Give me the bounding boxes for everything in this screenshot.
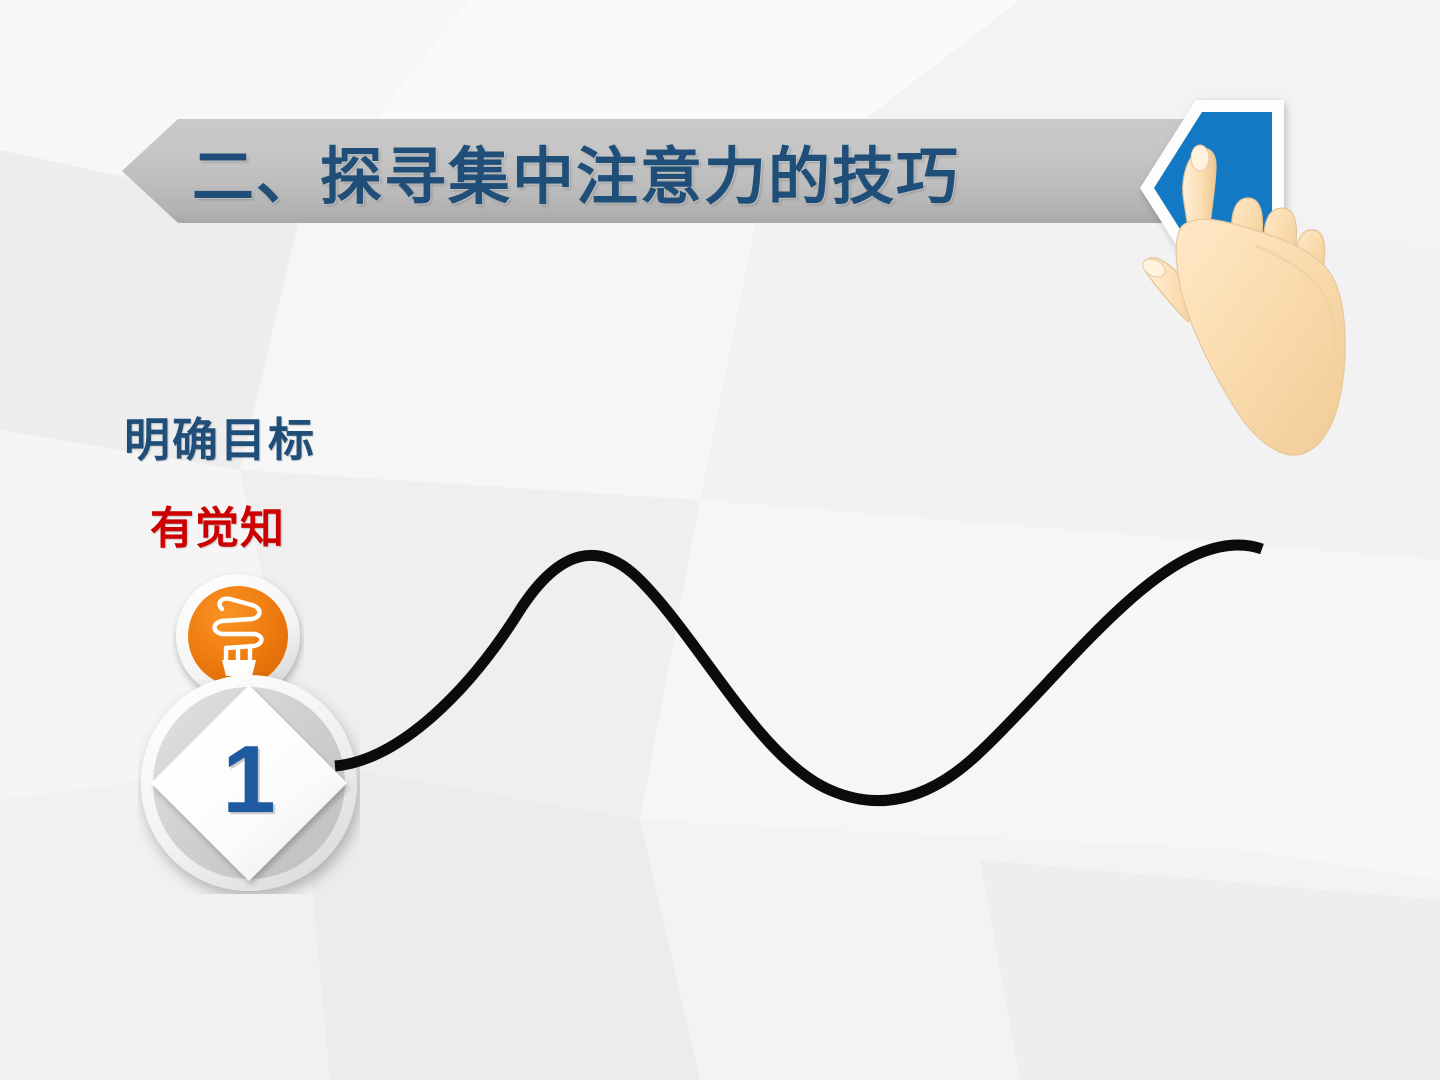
goal-label: 明确目标 [124, 404, 316, 470]
step-number-badge[interactable]: 1 [138, 672, 360, 894]
step-number: 1 [138, 672, 360, 894]
slide-canvas: 二、探寻集中注意力的技巧 [0, 0, 1440, 1080]
page-title: 二、探寻集中注意力的技巧 [192, 126, 960, 216]
title-banner: 二、探寻集中注意力的技巧 [122, 119, 1217, 223]
awareness-label: 有觉知 [150, 492, 285, 556]
pointer-graphic [1136, 86, 1440, 466]
